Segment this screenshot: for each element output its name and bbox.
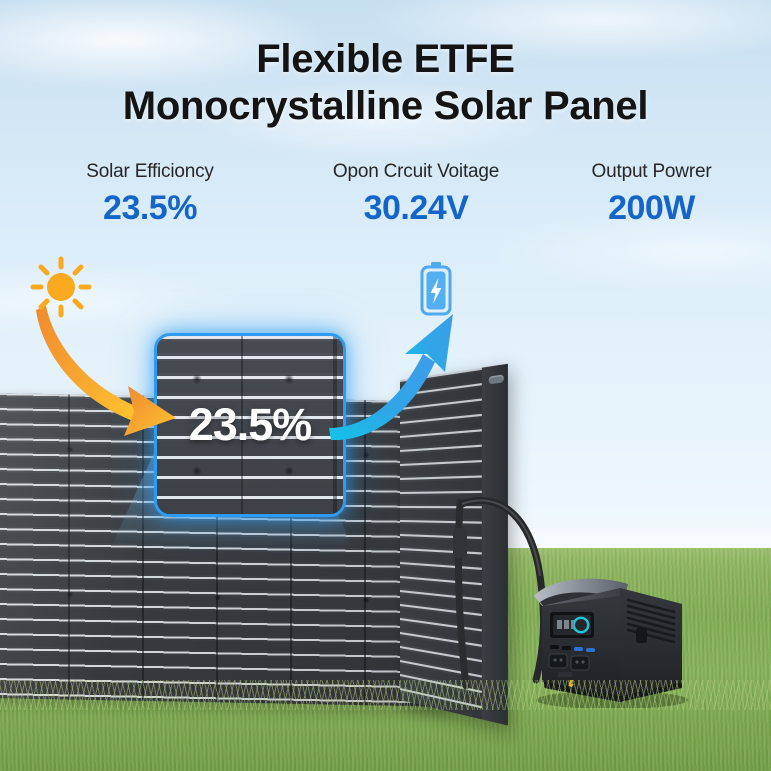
stat-open-circuit-voltage: Opon Crcuit Voitage 30.24V (300, 160, 532, 229)
grass-blade-detail (0, 680, 771, 710)
title-line-1: Flexible ETFE (256, 37, 514, 81)
title-line-2: Monocrystalline Solar Panel (0, 83, 771, 130)
stat-output-power: Output Powrer 200W (532, 160, 771, 229)
page-title: Flexible ETFE Monocrystalline Solar Pane… (0, 36, 771, 130)
stat-label: Output Powrer (532, 160, 771, 184)
station-latch (636, 628, 647, 643)
stat-label: Solar Efficioncy (0, 160, 300, 184)
orange-curved-arrow-icon (24, 300, 214, 440)
blue-curved-arrow-icon (325, 310, 465, 440)
stat-value: 23.5% (0, 187, 300, 229)
station-label-plate (558, 672, 572, 677)
sun-icon (30, 256, 92, 318)
battery-charging-icon (419, 262, 453, 316)
stat-solar-efficiency: Solar Efficioncy 23.5% (0, 160, 300, 229)
spec-stats-row: Solar Efficioncy 23.5% Opon Crcuit Voita… (0, 160, 771, 229)
stat-value: 30.24V (300, 187, 532, 229)
panel-grommet (489, 374, 504, 384)
product-infographic: Flexible ETFE Monocrystalline Solar Pane… (0, 0, 771, 771)
stat-label: Opon Crcuit Voitage (300, 160, 532, 184)
stat-value: 200W (532, 187, 771, 229)
